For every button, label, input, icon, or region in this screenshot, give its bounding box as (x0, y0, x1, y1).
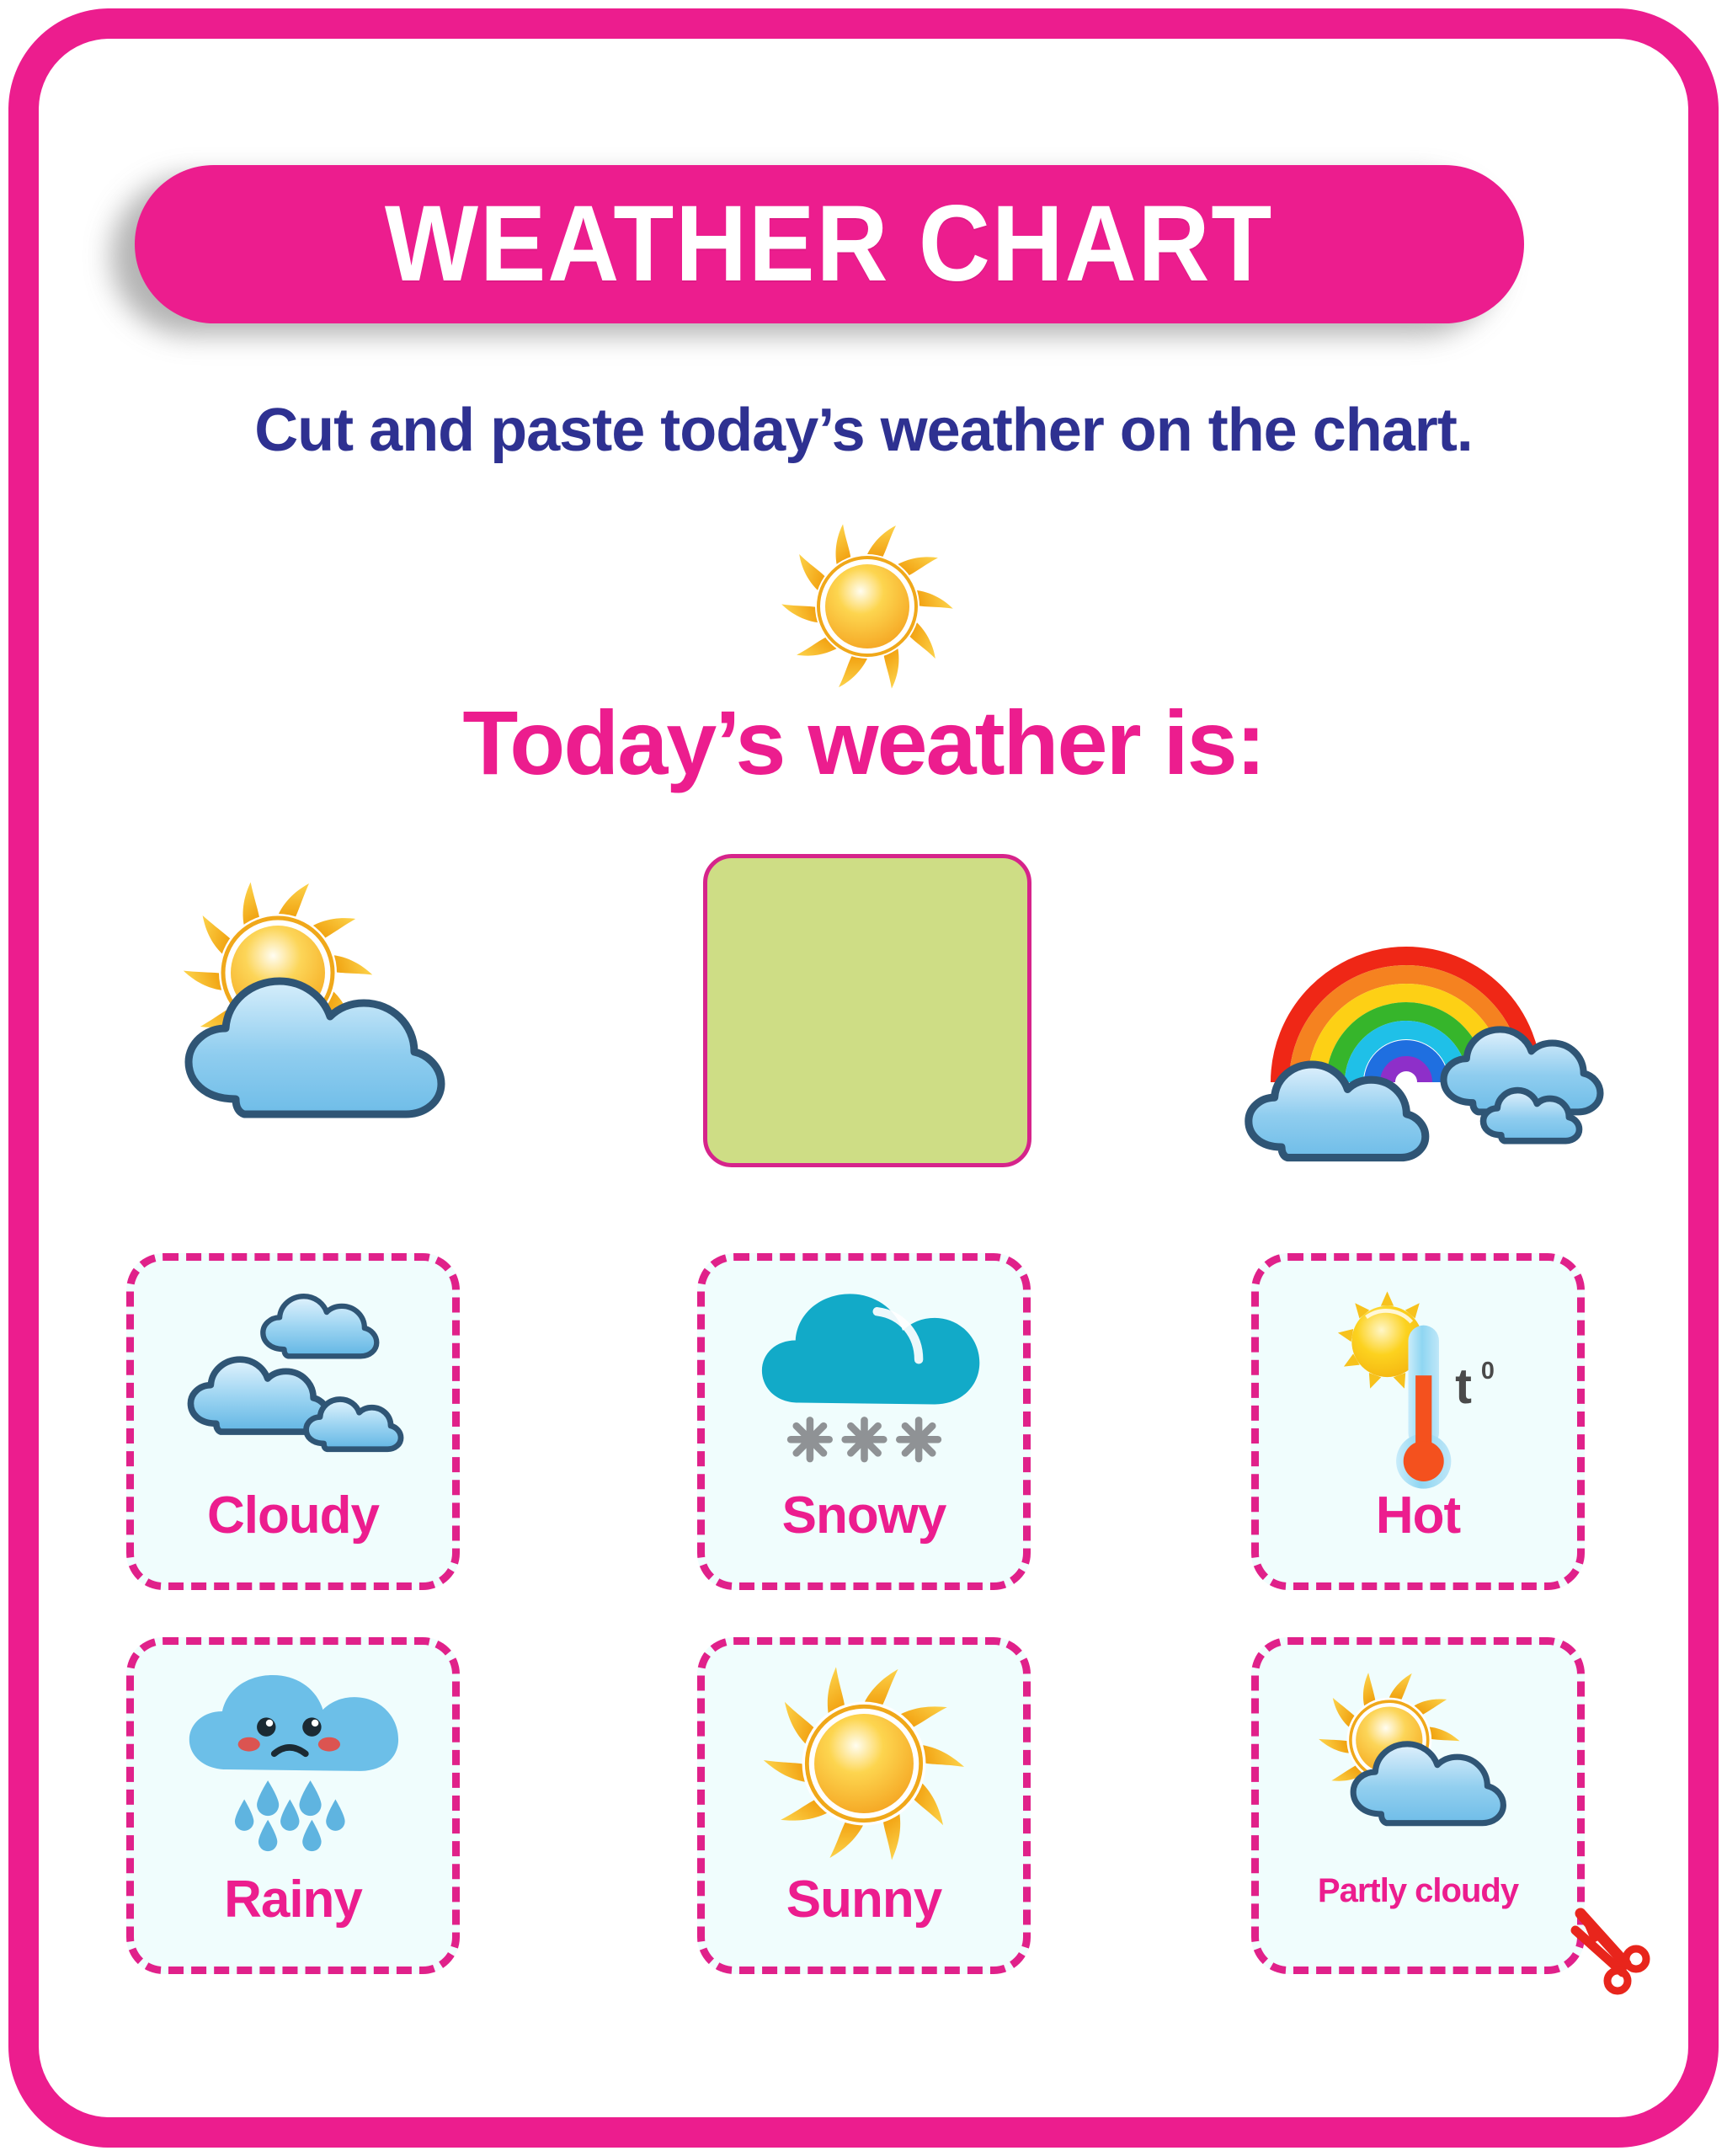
sun-icon (705, 1645, 1023, 1874)
banner-body: WEATHER CHART (135, 165, 1524, 323)
card-label: Snowy (782, 1490, 946, 1542)
card-label: Hot (1376, 1490, 1460, 1542)
weather-card-rainy[interactable]: Rainy (126, 1637, 460, 1974)
sun-behind-cloud-icon (135, 842, 505, 1179)
thermometer-unit: t (1455, 1358, 1472, 1414)
sad-rain-cloud-icon (134, 1645, 452, 1874)
card-label: Sunny (786, 1874, 941, 1926)
worksheet-page: WEATHER CHART Cut and paste today’s weat… (0, 0, 1727, 2156)
paste-box[interactable] (703, 854, 1031, 1167)
today-weather-row (84, 842, 1650, 1179)
title-banner: WEATHER CHART (135, 165, 1524, 323)
thermometer-degree: 0 (1481, 1358, 1495, 1385)
card-label: Partly cloudy (1318, 1874, 1518, 1908)
weather-card-sunny[interactable]: Sunny (697, 1637, 1031, 1974)
sun-thermometer-icon: t 0 (1259, 1261, 1577, 1490)
page-title: WEATHER CHART (385, 190, 1273, 298)
rainbow-with-clouds-icon (1221, 842, 1591, 1179)
weather-card-snowy[interactable]: Snowy (697, 1253, 1031, 1590)
weather-card-cloudy[interactable]: Cloudy (126, 1253, 460, 1590)
card-label: Cloudy (207, 1490, 379, 1542)
paste-box-slot[interactable] (682, 842, 1053, 1179)
weather-card-partly-cloudy[interactable]: Partly cloudy (1251, 1637, 1585, 1974)
three-clouds-icon (134, 1261, 452, 1490)
snow-cloud-icon (705, 1261, 1023, 1490)
card-label: Rainy (224, 1874, 362, 1926)
weather-card-grid: Cloudy (126, 1253, 1591, 1977)
scissors-icon (1570, 1905, 1663, 1998)
weather-card-hot[interactable]: t 0 Hot (1251, 1253, 1585, 1590)
instruction-text: Cut and paste today’s weather on the cha… (0, 396, 1727, 465)
sun-icon (783, 522, 951, 691)
sun-behind-cloud-icon (1259, 1645, 1577, 1874)
today-weather-prompt: Today’s weather is: (0, 697, 1727, 788)
